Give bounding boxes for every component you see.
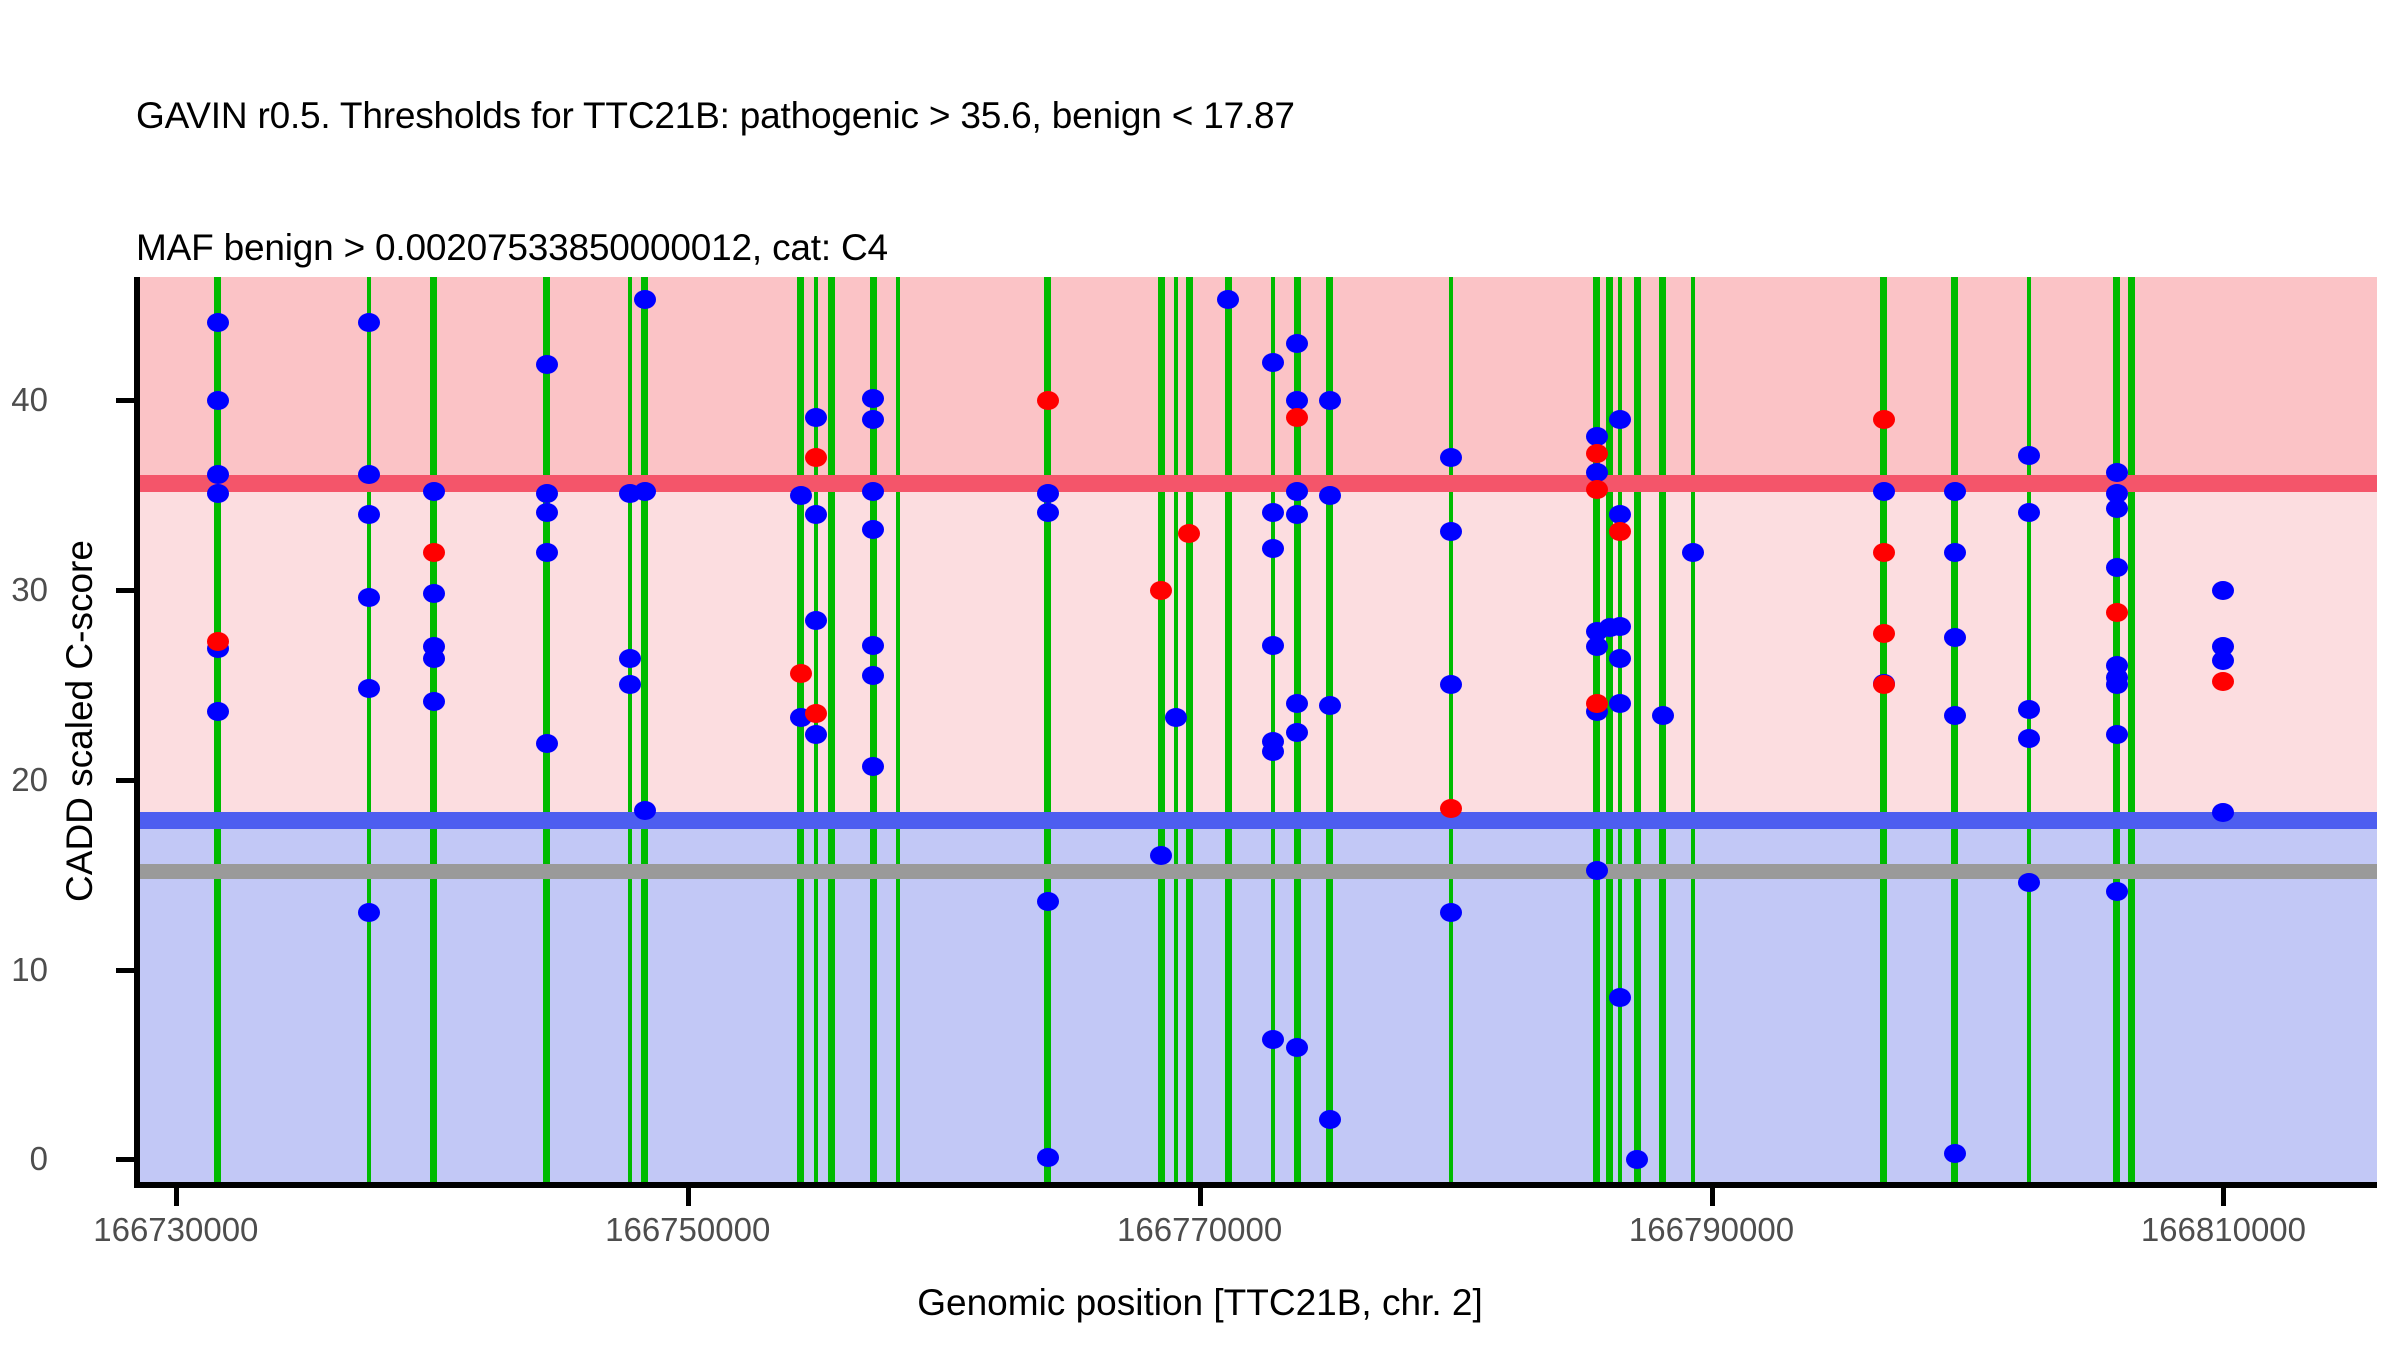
data-point bbox=[1944, 1144, 1966, 1163]
exon-line bbox=[1593, 277, 1600, 1182]
data-point bbox=[207, 702, 229, 721]
y-axis-label: CADD scaled C-score bbox=[59, 271, 101, 1171]
data-point bbox=[634, 801, 656, 820]
data-point bbox=[1609, 522, 1631, 541]
data-point bbox=[1150, 581, 1172, 600]
data-point bbox=[1873, 624, 1895, 643]
exon-line bbox=[628, 277, 632, 1182]
data-point bbox=[634, 290, 656, 309]
data-point bbox=[1873, 675, 1895, 694]
data-point bbox=[1037, 892, 1059, 911]
data-point bbox=[358, 679, 380, 698]
data-point bbox=[1944, 482, 1966, 501]
data-point bbox=[1319, 1110, 1341, 1129]
data-point bbox=[1609, 617, 1631, 636]
exon-line bbox=[1691, 277, 1695, 1182]
y-tick-label: 20 bbox=[11, 763, 48, 796]
exon-line bbox=[1634, 277, 1641, 1182]
data-point bbox=[1037, 391, 1059, 410]
data-point bbox=[1286, 1038, 1308, 1057]
data-point bbox=[1626, 1150, 1648, 1169]
y-axis-line bbox=[134, 277, 140, 1182]
exon-line bbox=[1174, 277, 1178, 1182]
data-point bbox=[1944, 706, 1966, 725]
exon-line bbox=[367, 277, 371, 1182]
data-point bbox=[1262, 742, 1284, 761]
data-point bbox=[862, 757, 884, 776]
benign-threshold-line bbox=[140, 812, 2377, 829]
exon-line bbox=[1186, 277, 1193, 1182]
data-point bbox=[1944, 628, 1966, 647]
data-point bbox=[423, 482, 445, 501]
exon-line bbox=[1326, 277, 1333, 1182]
data-point bbox=[536, 355, 558, 374]
data-point bbox=[2212, 651, 2234, 670]
data-point bbox=[536, 543, 558, 562]
data-point bbox=[423, 649, 445, 668]
data-point bbox=[1262, 636, 1284, 655]
data-point bbox=[790, 486, 812, 505]
zone-band-vous bbox=[140, 484, 2377, 820]
data-point bbox=[1037, 1148, 1059, 1167]
y-tick-label: 30 bbox=[11, 573, 48, 606]
data-point bbox=[1609, 410, 1631, 429]
data-point bbox=[1319, 696, 1341, 715]
y-tick-label: 40 bbox=[11, 383, 48, 416]
x-tick-label: 166750000 bbox=[605, 1212, 770, 1248]
data-point bbox=[1586, 444, 1608, 463]
exon-line bbox=[543, 277, 550, 1182]
data-point bbox=[862, 636, 884, 655]
y-tick bbox=[116, 398, 134, 403]
exon-line bbox=[1951, 277, 1958, 1182]
exon-line bbox=[828, 277, 835, 1182]
data-point bbox=[358, 313, 380, 332]
data-point bbox=[862, 410, 884, 429]
data-point bbox=[805, 611, 827, 630]
data-point bbox=[2106, 463, 2128, 482]
fallback-threshold-line bbox=[140, 864, 2377, 879]
exon-line bbox=[214, 277, 221, 1182]
y-tick bbox=[116, 1157, 134, 1162]
data-point bbox=[1165, 708, 1187, 727]
data-point bbox=[358, 465, 380, 484]
x-tick-label: 166790000 bbox=[1629, 1212, 1794, 1248]
y-tick-label: 10 bbox=[11, 953, 48, 986]
data-point bbox=[423, 543, 445, 562]
pathogenic-threshold-line bbox=[140, 475, 2377, 492]
data-point bbox=[2018, 446, 2040, 465]
data-point bbox=[207, 465, 229, 484]
data-point bbox=[1037, 484, 1059, 503]
data-point bbox=[862, 482, 884, 501]
exon-line bbox=[1449, 277, 1453, 1182]
x-tick bbox=[1198, 1188, 1203, 1206]
data-point bbox=[2106, 725, 2128, 744]
data-point bbox=[1873, 410, 1895, 429]
data-point bbox=[1682, 543, 1704, 562]
x-tick bbox=[2221, 1188, 2226, 1206]
data-point bbox=[805, 408, 827, 427]
data-point bbox=[207, 391, 229, 410]
y-tick-label: 0 bbox=[30, 1142, 48, 1175]
x-axis-line bbox=[134, 1182, 2377, 1188]
data-point bbox=[536, 503, 558, 522]
data-point bbox=[805, 505, 827, 524]
data-point bbox=[1652, 706, 1674, 725]
y-tick bbox=[116, 778, 134, 783]
data-point bbox=[1873, 543, 1895, 562]
data-point bbox=[207, 313, 229, 332]
data-point bbox=[1873, 482, 1895, 501]
data-point bbox=[1037, 503, 1059, 522]
data-point bbox=[805, 704, 827, 723]
data-point bbox=[536, 484, 558, 503]
x-tick-label: 166810000 bbox=[2141, 1212, 2306, 1248]
data-point bbox=[805, 448, 827, 467]
data-point bbox=[862, 520, 884, 539]
data-point bbox=[358, 588, 380, 607]
data-point bbox=[2018, 729, 2040, 748]
data-point bbox=[2106, 558, 2128, 577]
data-point bbox=[1262, 503, 1284, 522]
data-point bbox=[862, 666, 884, 685]
exon-line bbox=[1225, 277, 1232, 1182]
exon-line bbox=[430, 277, 437, 1182]
data-point bbox=[2018, 503, 2040, 522]
exon-line bbox=[1158, 277, 1165, 1182]
data-point bbox=[1609, 649, 1631, 668]
plot-panel bbox=[140, 277, 2377, 1182]
exon-line bbox=[1659, 277, 1666, 1182]
exon-line bbox=[797, 277, 804, 1182]
data-point bbox=[358, 505, 380, 524]
data-point bbox=[1944, 543, 1966, 562]
data-point bbox=[2018, 700, 2040, 719]
data-point bbox=[207, 632, 229, 651]
x-tick-label: 166770000 bbox=[1117, 1212, 1282, 1248]
scatter-plot: 010203040 166730000166750000166770000166… bbox=[0, 0, 2400, 1350]
data-point bbox=[2212, 581, 2234, 600]
data-point bbox=[207, 484, 229, 503]
data-point bbox=[2212, 803, 2234, 822]
x-tick bbox=[1710, 1188, 1715, 1206]
x-tick-label: 166730000 bbox=[93, 1212, 258, 1248]
data-point bbox=[634, 482, 656, 501]
exon-line bbox=[1044, 277, 1051, 1182]
data-point bbox=[1319, 486, 1341, 505]
y-tick bbox=[116, 588, 134, 593]
data-point bbox=[1178, 524, 1200, 543]
exon-line bbox=[896, 277, 900, 1182]
data-point bbox=[2106, 499, 2128, 518]
data-point bbox=[2212, 672, 2234, 691]
data-point bbox=[1286, 505, 1308, 524]
exon-line bbox=[2128, 277, 2135, 1182]
data-point bbox=[862, 389, 884, 408]
x-tick bbox=[174, 1188, 179, 1206]
data-point bbox=[1609, 505, 1631, 524]
x-axis-label: Genomic position [TTC21B, chr. 2] bbox=[0, 1282, 2400, 1324]
data-point bbox=[1262, 539, 1284, 558]
data-point bbox=[1586, 480, 1608, 499]
zone-band-pathogenic bbox=[140, 277, 2377, 484]
data-point bbox=[358, 903, 380, 922]
x-tick bbox=[686, 1188, 691, 1206]
data-point bbox=[790, 664, 812, 683]
data-point bbox=[1319, 391, 1341, 410]
data-point bbox=[805, 725, 827, 744]
y-tick bbox=[116, 968, 134, 973]
data-point bbox=[2018, 873, 2040, 892]
exon-line bbox=[641, 277, 648, 1182]
